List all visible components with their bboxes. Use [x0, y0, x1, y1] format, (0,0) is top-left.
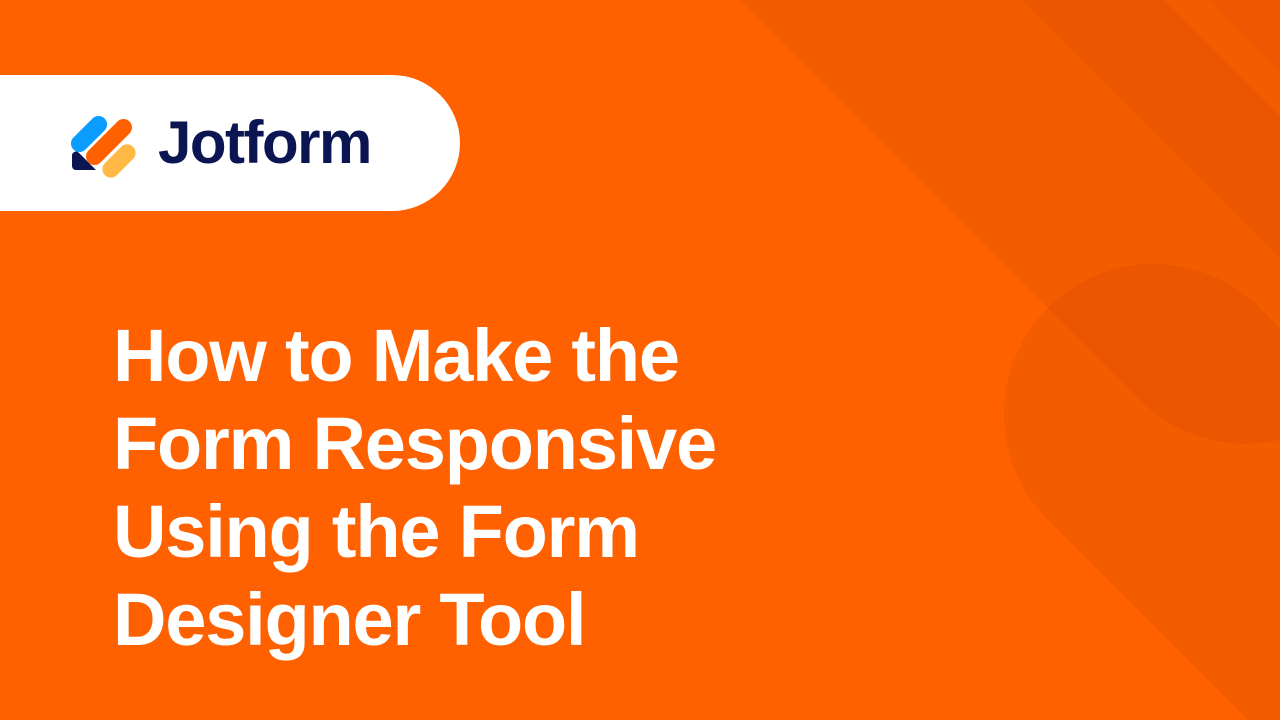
jotform-wordmark: Jotform: [158, 113, 371, 173]
jotform-logo-lockup: Jotform: [66, 106, 371, 180]
brand-logo-card: Jotform: [0, 75, 460, 211]
page-title: How to Make the Form Responsive Using th…: [113, 312, 753, 664]
jotform-logo-mark-icon: [66, 106, 140, 180]
title-card: Jotform How to Make the Form Responsive …: [0, 0, 1280, 720]
diagonal-pill-shape-3: [942, 202, 1280, 720]
diagonal-pill-shape-2: [777, 0, 1280, 638]
diagonal-pill-shape-4: [1134, 0, 1280, 421]
